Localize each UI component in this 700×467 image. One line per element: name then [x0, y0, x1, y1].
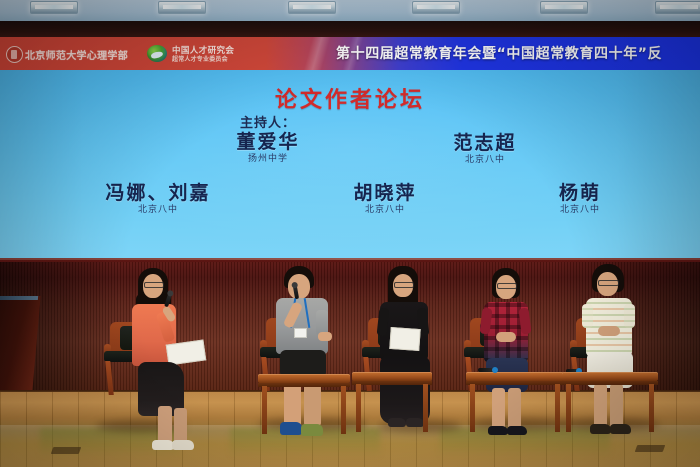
ceiling-light-icon — [540, 1, 588, 14]
bnu-seal-icon — [6, 46, 23, 63]
host-affiliation: 扬州中学 — [198, 153, 338, 165]
table-top — [352, 372, 432, 381]
table-leg — [649, 384, 654, 432]
table-leg — [470, 384, 475, 432]
seated-person — [118, 268, 198, 458]
glasses-icon — [144, 282, 164, 288]
hands — [496, 332, 516, 342]
banner-org-left-name: 北京师范大学心理学部 — [25, 47, 128, 62]
panelist-affiliation: 北京八中 — [510, 204, 650, 216]
host-role-label: 主持人： — [198, 116, 338, 131]
event-banner: 北京师范大学心理学部 中国人才研究会 超常人才专业委员会 第十四届超常教育年会暨… — [0, 37, 700, 70]
table-top — [562, 372, 658, 381]
slide-panelist: 冯娜、刘嘉 北京八中 — [58, 182, 258, 216]
talent-society-swoosh-icon — [147, 45, 167, 62]
banner-org-right-name-2: 超常人才专业委员会 — [172, 54, 228, 63]
table-leg — [566, 384, 571, 432]
microphone-icon — [478, 368, 494, 372]
side-table — [352, 372, 432, 434]
ceiling-light-icon — [288, 1, 336, 14]
panelist-name: 杨萌 — [510, 182, 650, 204]
panelist-name: 胡晓萍 — [315, 182, 455, 204]
chair-leg — [105, 361, 114, 395]
table-edge — [466, 381, 564, 385]
table-edge — [352, 381, 432, 385]
shoe — [152, 440, 174, 450]
table-leg — [423, 384, 428, 432]
ceiling-light-icon — [655, 1, 700, 14]
slide-title: 论文作者论坛 — [0, 82, 700, 114]
arm — [582, 304, 593, 328]
slide-panelist: 胡晓萍 北京八中 — [315, 182, 455, 216]
slide-panelist: 范志超 北京八中 — [415, 132, 555, 166]
arm — [624, 304, 635, 328]
table-top — [466, 372, 564, 381]
arm — [518, 307, 531, 334]
panelist-name: 冯娜、刘嘉 — [58, 182, 258, 204]
ceiling-light-icon — [158, 1, 206, 14]
side-table — [562, 372, 658, 434]
side-table — [258, 374, 350, 436]
panelist-affiliation: 北京八中 — [315, 204, 455, 216]
table-edge — [562, 381, 658, 385]
panelist-name: 范志超 — [415, 132, 555, 154]
shoe — [172, 440, 194, 450]
leg — [174, 408, 187, 444]
table-edge — [258, 383, 350, 387]
conference-photo: 北京师范大学心理学部 中国人才研究会 超常人才专业委员会 第十四届超常教育年会暨… — [0, 0, 700, 467]
glasses-icon — [598, 280, 619, 286]
slide-host: 主持人： 董爱华 扬州中学 — [198, 116, 338, 165]
podium-top-surface — [0, 296, 38, 300]
ceiling-shadow-band — [0, 21, 700, 38]
table-leg — [555, 384, 560, 432]
table-top — [258, 374, 350, 383]
ceiling-light-icon — [30, 1, 78, 14]
ceiling-light-icon — [412, 1, 460, 14]
papers — [389, 327, 420, 351]
glasses-icon — [394, 282, 414, 288]
panelist-affiliation: 北京八中 — [415, 154, 555, 166]
slide-panelist: 杨萌 北京八中 — [510, 182, 650, 216]
leg — [158, 406, 172, 444]
table-leg — [262, 386, 267, 434]
banner-title: 第十四届超常教育年会暨“中国超常教育四十年”反 — [336, 43, 662, 63]
side-table — [466, 372, 564, 434]
host-name: 董爱华 — [198, 131, 338, 153]
hand — [318, 332, 332, 341]
glasses-icon — [497, 283, 517, 289]
screen-bottom-edge — [0, 258, 700, 260]
ceiling — [0, 0, 700, 22]
floor-vent — [51, 447, 82, 454]
name-badge — [294, 328, 307, 338]
table-leg — [356, 384, 361, 432]
panelist-affiliation: 北京八中 — [58, 204, 258, 216]
hands — [598, 326, 620, 336]
table-leg — [341, 386, 346, 434]
projection-screen: 论文作者论坛 主持人： 董爱华 扬州中学 范志超 北京八中 冯娜、刘嘉 北京八中… — [0, 70, 700, 262]
